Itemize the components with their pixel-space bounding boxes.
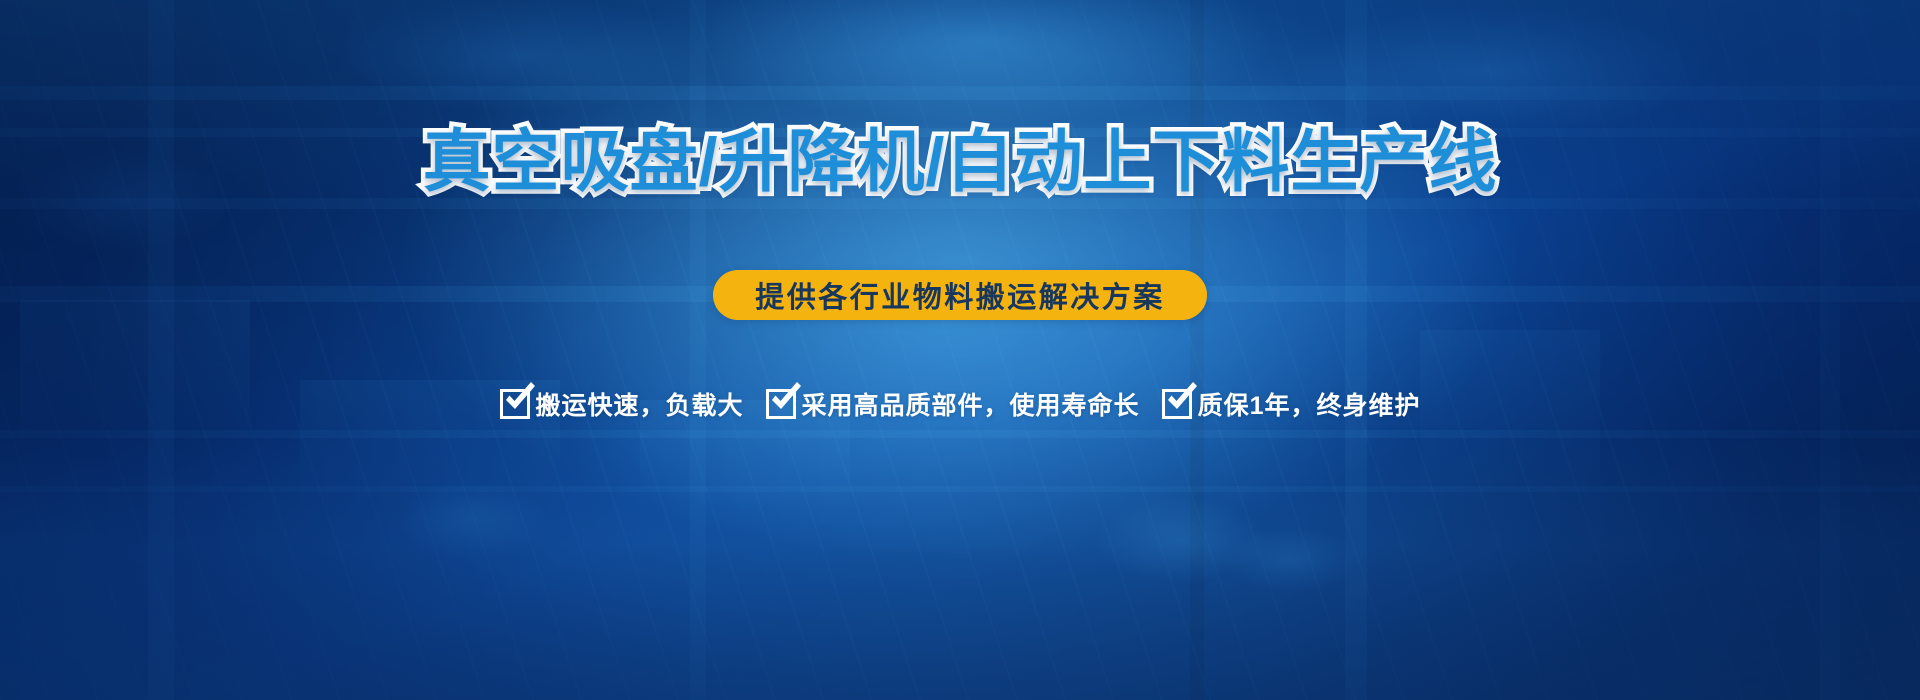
- banner-tagline-pill: 提供各行业物料搬运解决方案: [713, 270, 1207, 320]
- banner-headline: 真空吸盘/升降机/自动上下料生产线: [423, 128, 1498, 196]
- feature-item: 质保1年，终身维护: [1162, 386, 1421, 422]
- check-box-icon: [1162, 389, 1192, 419]
- feature-label: 采用高品质部件，使用寿命长: [802, 386, 1140, 422]
- check-box-icon: [766, 389, 796, 419]
- feature-label: 质保1年，终身维护: [1198, 386, 1421, 422]
- feature-label: 搬运快速，负载大: [536, 386, 744, 422]
- feature-item: 搬运快速，负载大: [500, 386, 744, 422]
- banner-content: 真空吸盘/升降机/自动上下料生产线 提供各行业物料搬运解决方案 搬运快速，负载大: [0, 0, 1920, 700]
- feature-item: 采用高品质部件，使用寿命长: [766, 386, 1140, 422]
- banner-tagline-text: 提供各行业物料搬运解决方案: [755, 274, 1165, 316]
- hero-banner: 真空吸盘/升降机/自动上下料生产线 提供各行业物料搬运解决方案 搬运快速，负载大: [0, 0, 1920, 700]
- feature-list: 搬运快速，负载大 采用高品质部件，使用寿命长 质保1年，终身维护: [500, 386, 1421, 422]
- check-box-icon: [500, 389, 530, 419]
